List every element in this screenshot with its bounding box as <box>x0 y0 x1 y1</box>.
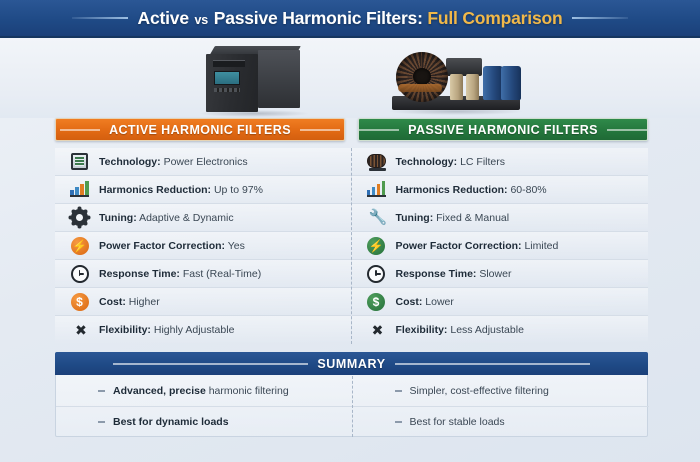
header-rule-left <box>72 17 128 19</box>
chip-icon <box>69 151 90 172</box>
passive-banner-label: PASSIVE HARMONIC FILTERS <box>408 123 598 137</box>
active-filter-cabinet-image <box>198 44 318 116</box>
bar-chart-icon <box>366 179 387 200</box>
active-banner-label: ACTIVE HARMONIC FILTERS <box>109 123 291 137</box>
table-row: Technology: LC Filters <box>352 148 649 176</box>
row-label: Technology: <box>99 156 161 168</box>
summary-bold: Advanced, precise <box>113 385 206 397</box>
summary-banner: SUMMARY <box>55 352 648 375</box>
summary-rule-left <box>113 363 308 365</box>
list-item: Best for dynamic loads <box>56 407 352 438</box>
active-filters-banner: ACTIVE HARMONIC FILTERS <box>55 118 345 141</box>
copper-winding <box>398 84 442 92</box>
title-vs: vs <box>194 13 210 27</box>
passive-filter-assembly-image <box>388 44 528 116</box>
row-value: 60-80% <box>510 184 546 196</box>
table-row: Harmonics Reduction: 60-80% <box>352 176 649 204</box>
comparison-table: Technology: Power Electronics Harmonics … <box>55 148 648 344</box>
bullet-dash-icon <box>395 421 402 423</box>
lightning-icon: ⚡ <box>366 235 387 256</box>
title-part-one: Active <box>138 8 189 28</box>
row-label: Response Time: <box>99 268 180 280</box>
wrench-icon: 🔧 <box>366 207 387 228</box>
list-item: Best for stable loads <box>353 407 650 438</box>
row-label: Tuning: <box>99 212 137 224</box>
row-value: Less Adjustable <box>450 324 524 336</box>
header-rule-right <box>572 17 628 19</box>
row-value: Up to 97% <box>214 184 263 196</box>
inductor-coil-icon <box>366 151 387 172</box>
row-value: LC Filters <box>460 156 505 168</box>
row-label: Cost: <box>99 296 126 308</box>
bullet-dash-icon <box>98 390 105 392</box>
row-value: Highly Adjustable <box>154 324 235 336</box>
cabinet-vent <box>213 60 245 67</box>
table-row: ✖ Flexibility: Highly Adjustable <box>55 316 351 344</box>
bullet-dash-icon <box>98 421 105 423</box>
row-label: Harmonics Reduction: <box>396 184 508 196</box>
row-label: Technology: <box>396 156 458 168</box>
banner-rule-right <box>300 129 340 131</box>
summary-rest: Best for stable loads <box>410 416 505 428</box>
row-label: Flexibility: <box>99 324 151 336</box>
summary-rest: Simpler, cost-effective filtering <box>410 385 549 397</box>
summary-rest: harmonic filtering <box>206 385 289 397</box>
row-label: Power Factor Correction: <box>396 240 522 252</box>
row-label: Harmonics Reduction: <box>99 184 211 196</box>
summary-active-column: Advanced, precise harmonic filtering Bes… <box>56 376 353 437</box>
row-label: Response Time: <box>396 268 477 280</box>
list-item: Simpler, cost-effective filtering <box>353 376 650 407</box>
summary-body: Advanced, precise harmonic filtering Bes… <box>56 376 649 437</box>
banner-rule-left <box>60 129 100 131</box>
dollar-icon: $ <box>69 291 90 312</box>
header-bar: Active vs Passive Harmonic Filters: Full… <box>0 0 700 38</box>
row-value: Fixed & Manual <box>436 212 509 224</box>
blue-capacitor-1 <box>483 66 503 100</box>
table-row: Tuning: Adaptive & Dynamic <box>55 204 351 232</box>
bar-chart-icon <box>69 179 90 200</box>
banner-rule-right <box>607 129 647 131</box>
row-value: Lower <box>425 296 454 308</box>
banner-rule-left <box>359 129 399 131</box>
row-label: Power Factor Correction: <box>99 240 225 252</box>
beige-capacitor-1 <box>450 74 463 100</box>
clock-icon <box>69 263 90 284</box>
passive-filters-column: Technology: LC Filters Harmonics Reducti… <box>352 148 649 344</box>
infographic-poster: Active vs Passive Harmonic Filters: Full… <box>0 0 700 462</box>
summary-title: SUMMARY <box>317 357 385 371</box>
toroidal-inductor <box>396 52 448 102</box>
blue-capacitor-2 <box>501 66 521 100</box>
table-row: Response Time: Slower <box>352 260 649 288</box>
page-title: Active vs Passive Harmonic Filters: Full… <box>138 8 563 29</box>
table-row: Technology: Power Electronics <box>55 148 351 176</box>
title-part-two: Passive Harmonic Filters: <box>214 8 423 28</box>
summary-bold: Best for dynamic loads <box>113 416 229 428</box>
product-image-strip <box>0 38 700 118</box>
row-value: Slower <box>479 268 511 280</box>
clock-icon <box>366 263 387 284</box>
passive-filters-banner: PASSIVE HARMONIC FILTERS <box>358 118 648 141</box>
cabinet-keypad <box>214 88 240 92</box>
table-row: 🔧 Tuning: Fixed & Manual <box>352 204 649 232</box>
table-row: ⚡ Power Factor Correction: Yes <box>55 232 351 260</box>
table-row: Response Time: Fast (Real-Time) <box>55 260 351 288</box>
row-label: Cost: <box>396 296 423 308</box>
tools-icon: ✖ <box>366 320 387 341</box>
summary-card: SUMMARY Advanced, precise harmonic filte… <box>55 352 648 437</box>
dollar-icon: $ <box>366 291 387 312</box>
row-value: Yes <box>228 240 245 252</box>
row-label: Flexibility: <box>396 324 448 336</box>
table-row: ✖ Flexibility: Less Adjustable <box>352 316 649 344</box>
table-row: Harmonics Reduction: Up to 97% <box>55 176 351 204</box>
cabinet-side-panel <box>258 50 300 108</box>
row-value: Limited <box>524 240 558 252</box>
list-item: Advanced, precise harmonic filtering <box>56 376 352 407</box>
table-row: $ Cost: Higher <box>55 288 351 316</box>
table-row: $ Cost: Lower <box>352 288 649 316</box>
gear-icon <box>69 207 90 228</box>
title-accent: Full Comparison <box>427 8 562 28</box>
summary-rule-right <box>395 363 590 365</box>
active-filters-column: Technology: Power Electronics Harmonics … <box>55 148 352 344</box>
row-value: Higher <box>129 296 160 308</box>
bullet-dash-icon <box>395 390 402 392</box>
row-value: Adaptive & Dynamic <box>139 212 234 224</box>
summary-passive-column: Simpler, cost-effective filtering Best f… <box>353 376 650 437</box>
tools-icon: ✖ <box>69 320 90 341</box>
table-row: ⚡ Power Factor Correction: Limited <box>352 232 649 260</box>
cabinet-lcd-screen <box>214 71 240 85</box>
beige-capacitor-2 <box>466 74 479 100</box>
row-value: Fast (Real-Time) <box>183 268 261 280</box>
lightning-icon: ⚡ <box>69 235 90 256</box>
row-label: Tuning: <box>396 212 434 224</box>
row-value: Power Electronics <box>164 156 248 168</box>
